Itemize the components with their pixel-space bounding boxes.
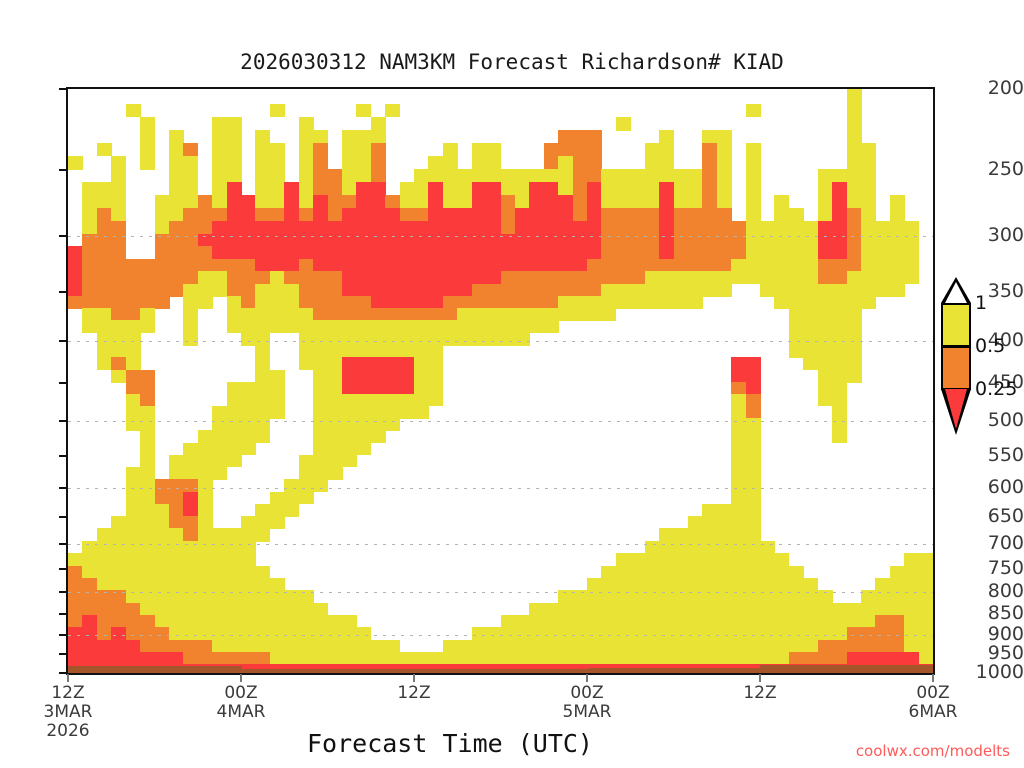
heatmap-cell bbox=[198, 430, 271, 443]
heatmap-cell bbox=[717, 169, 732, 182]
heatmap-cell bbox=[731, 418, 760, 431]
heatmap-cell bbox=[501, 182, 530, 196]
heatmap-cell bbox=[183, 504, 198, 517]
heatmap-cell bbox=[198, 528, 271, 541]
heatmap-cell bbox=[818, 259, 862, 272]
heatmap-cell bbox=[558, 182, 573, 196]
heatmap-cells bbox=[68, 89, 933, 673]
heatmap-cell bbox=[501, 615, 876, 628]
heatmap-cell bbox=[284, 271, 342, 284]
heatmap-cell bbox=[789, 652, 847, 665]
heatmap-cell bbox=[573, 156, 602, 170]
heatmap-cell bbox=[702, 504, 760, 517]
heatmap-cell bbox=[616, 553, 790, 566]
x-tick-line2: 6MAR bbox=[873, 703, 993, 722]
x-tick-label: 00Z6MAR bbox=[873, 684, 993, 722]
heatmap-cell bbox=[573, 182, 588, 196]
heatmap-cell bbox=[717, 182, 732, 196]
heatmap-cell bbox=[97, 615, 155, 628]
heatmap-cell bbox=[140, 640, 213, 653]
heatmap-cell bbox=[241, 296, 256, 309]
heatmap-cell bbox=[82, 221, 97, 234]
heatmap-cell bbox=[414, 169, 573, 182]
heatmap-cell bbox=[255, 169, 284, 182]
heatmap-cell bbox=[587, 208, 602, 221]
heatmap-cell bbox=[227, 208, 256, 221]
heatmap-cell bbox=[558, 130, 602, 143]
heatmap-cell bbox=[198, 479, 213, 492]
heatmap-cell bbox=[875, 578, 933, 591]
x-tick-line3: 2026 bbox=[8, 722, 128, 741]
heatmap-cell bbox=[68, 296, 170, 309]
gridline bbox=[68, 341, 933, 342]
heatmap-cell bbox=[270, 492, 314, 505]
terrain-segment bbox=[587, 668, 602, 675]
heatmap-cell bbox=[68, 553, 256, 566]
heatmap-cell bbox=[111, 169, 126, 182]
heatmap-cell bbox=[573, 169, 602, 182]
heatmap-cell bbox=[674, 221, 747, 234]
terrain-segment bbox=[760, 665, 775, 675]
heatmap-cell bbox=[111, 308, 140, 321]
heatmap-cell bbox=[111, 208, 126, 221]
heatmap-cell bbox=[818, 271, 847, 284]
heatmap-cell bbox=[789, 345, 862, 358]
heatmap-cell bbox=[126, 467, 155, 480]
heatmap-cell bbox=[212, 117, 241, 131]
heatmap-cell bbox=[270, 652, 790, 665]
heatmap-cell bbox=[861, 221, 919, 234]
heatmap-cell bbox=[371, 117, 386, 131]
heatmap-cell bbox=[140, 443, 155, 456]
x-axis-title: Forecast Time (UTC) bbox=[240, 729, 660, 758]
heatmap-cell bbox=[818, 169, 876, 182]
heatmap-cell bbox=[674, 195, 703, 209]
heatmap-cell bbox=[659, 221, 674, 234]
terrain-segment bbox=[169, 666, 184, 675]
heatmap-cell bbox=[68, 615, 83, 628]
x-tick-mark bbox=[67, 674, 69, 682]
heatmap-cell bbox=[832, 430, 847, 443]
heatmap-cell bbox=[126, 504, 170, 517]
heatmap-cell bbox=[385, 195, 400, 209]
heatmap-cell bbox=[299, 195, 314, 209]
y-tick-label: 900 bbox=[968, 625, 1024, 644]
heatmap-cell bbox=[832, 208, 847, 221]
colorbar-label: 0.5 bbox=[975, 337, 1005, 356]
heatmap-cell bbox=[126, 492, 155, 505]
heatmap-cell bbox=[457, 308, 616, 321]
heatmap-cell bbox=[212, 143, 241, 157]
heatmap-cell bbox=[227, 320, 559, 333]
heatmap-cell bbox=[68, 640, 141, 653]
heatmap-cell bbox=[155, 479, 199, 492]
heatmap-cell bbox=[832, 195, 847, 209]
heatmap-cell bbox=[82, 615, 97, 628]
heatmap-cell bbox=[140, 143, 155, 157]
heatmap-cell bbox=[702, 182, 717, 196]
terrain-segment bbox=[140, 666, 155, 675]
terrain-segment bbox=[731, 668, 746, 675]
terrain-segment bbox=[601, 668, 616, 675]
terrain-segment bbox=[356, 669, 371, 675]
heatmap-cell bbox=[414, 370, 443, 383]
heatmap-cell bbox=[832, 182, 847, 196]
terrain-segment bbox=[328, 669, 343, 675]
y-tick-mark bbox=[59, 516, 68, 518]
y-tick-label: 800 bbox=[968, 582, 1024, 601]
x-tick-label: 00Z5MAR bbox=[527, 684, 647, 722]
terrain-segment bbox=[428, 669, 443, 675]
heatmap-cell bbox=[616, 117, 631, 131]
gridline bbox=[68, 421, 933, 422]
heatmap-cell bbox=[255, 296, 299, 309]
heatmap-cell bbox=[255, 345, 270, 358]
terrain-segment bbox=[659, 668, 674, 675]
heatmap-cell bbox=[818, 182, 833, 196]
terrain-segment bbox=[717, 668, 732, 675]
heatmap-cell bbox=[68, 603, 141, 616]
heatmap-cell bbox=[299, 296, 372, 309]
y-tick-mark bbox=[59, 487, 68, 489]
heatmap-cell bbox=[299, 130, 328, 143]
heatmap-cell bbox=[904, 615, 933, 628]
credit-watermark: coolwx.com/modelts bbox=[856, 742, 1010, 760]
heatmap-cell bbox=[198, 504, 213, 517]
plot-area bbox=[66, 87, 935, 675]
heatmap-cell bbox=[97, 345, 141, 358]
heatmap-cell bbox=[645, 156, 674, 170]
y-tick-label: 250 bbox=[968, 160, 1024, 179]
x-tick-line2: 5MAR bbox=[527, 703, 647, 722]
heatmap-cell bbox=[299, 455, 357, 468]
heatmap-cell bbox=[126, 394, 141, 407]
heatmap-cell bbox=[890, 195, 905, 209]
heatmap-cell bbox=[169, 467, 227, 480]
heatmap-cell bbox=[313, 143, 328, 157]
heatmap-cell bbox=[169, 182, 198, 196]
heatmap-cell bbox=[847, 182, 876, 196]
heatmap-cell bbox=[126, 406, 155, 419]
terrain-segment bbox=[313, 669, 328, 675]
heatmap-cell bbox=[342, 382, 415, 395]
heatmap-cell bbox=[342, 284, 472, 297]
terrain-segment bbox=[789, 665, 804, 675]
heatmap-cell bbox=[111, 370, 126, 383]
heatmap-cell bbox=[97, 528, 184, 541]
heatmap-cell bbox=[313, 156, 328, 170]
heatmap-cell bbox=[731, 492, 760, 505]
heatmap-cell bbox=[313, 182, 342, 196]
heatmap-cell bbox=[890, 566, 934, 579]
y-tick-mark bbox=[59, 591, 68, 593]
heatmap-cell bbox=[299, 208, 314, 221]
heatmap-cell bbox=[183, 284, 227, 297]
heatmap-cell bbox=[97, 333, 141, 346]
heatmap-cell bbox=[472, 195, 501, 209]
heatmap-cell bbox=[299, 117, 314, 131]
heatmap-cell bbox=[342, 169, 371, 182]
heatmap-cell bbox=[875, 615, 904, 628]
heatmap-cell bbox=[342, 143, 371, 157]
heatmap-cell bbox=[97, 357, 112, 370]
heatmap-cell bbox=[284, 208, 299, 221]
heatmap-cell bbox=[227, 271, 271, 284]
heatmap-cell bbox=[847, 156, 876, 170]
heatmap-cell bbox=[573, 208, 588, 221]
colorbar-segment bbox=[941, 303, 971, 347]
heatmap-cell bbox=[847, 221, 862, 234]
heatmap-cell bbox=[818, 208, 833, 221]
heatmap-cell bbox=[861, 259, 919, 272]
x-tick-line1: 12Z bbox=[51, 683, 84, 703]
heatmap-cell bbox=[97, 208, 112, 221]
heatmap-cell bbox=[68, 284, 83, 297]
heatmap-cell bbox=[529, 182, 558, 196]
heatmap-cell bbox=[313, 195, 328, 209]
heatmap-cell bbox=[731, 259, 818, 272]
terrain-segment bbox=[111, 666, 126, 675]
gridline bbox=[68, 635, 933, 636]
heatmap-cell bbox=[443, 143, 458, 157]
heatmap-cell bbox=[183, 320, 198, 333]
heatmap-cell bbox=[746, 382, 761, 395]
y-tick-mark bbox=[59, 634, 68, 636]
heatmap-cell bbox=[284, 195, 299, 209]
heatmap-cell bbox=[183, 443, 256, 456]
heatmap-cell bbox=[328, 195, 357, 209]
heatmap-cell bbox=[155, 246, 213, 259]
heatmap-cell bbox=[313, 406, 429, 419]
y-tick-label: 700 bbox=[968, 534, 1024, 553]
heatmap-cell bbox=[227, 182, 242, 196]
terrain-segment bbox=[284, 669, 299, 675]
heatmap-cell bbox=[832, 406, 847, 419]
heatmap-cell bbox=[227, 382, 285, 395]
heatmap-cell bbox=[313, 169, 342, 182]
y-tick-label: 200 bbox=[968, 79, 1024, 98]
heatmap-cell bbox=[299, 345, 444, 358]
heatmap-cell bbox=[342, 208, 400, 221]
heatmap-cell bbox=[890, 208, 905, 221]
y-tick-label: 850 bbox=[968, 604, 1024, 623]
heatmap-cell bbox=[774, 208, 803, 221]
heatmap-cell bbox=[443, 296, 559, 309]
heatmap-cell bbox=[313, 394, 443, 407]
y-tick-label: 1000 bbox=[968, 663, 1024, 682]
heatmap-cell bbox=[659, 130, 674, 143]
heatmap-cell bbox=[270, 104, 285, 117]
heatmap-cell bbox=[818, 246, 847, 259]
heatmap-cell bbox=[601, 566, 803, 579]
terrain-segment bbox=[212, 666, 227, 675]
heatmap-cell bbox=[212, 182, 227, 196]
heatmap-cell bbox=[472, 182, 501, 196]
heatmap-cell bbox=[198, 516, 213, 529]
heatmap-cell bbox=[313, 430, 386, 443]
heatmap-cell bbox=[544, 143, 602, 157]
heatmap-cell bbox=[746, 195, 761, 209]
heatmap-cell bbox=[443, 640, 818, 653]
heatmap-cell bbox=[183, 308, 198, 321]
y-tick-mark bbox=[59, 653, 68, 655]
x-tick-line1: 12Z bbox=[743, 683, 776, 703]
heatmap-cell bbox=[140, 603, 328, 616]
terrain-segment bbox=[616, 668, 631, 675]
heatmap-cell bbox=[212, 640, 400, 653]
heatmap-cell bbox=[371, 143, 386, 157]
heatmap-cell bbox=[299, 467, 343, 480]
terrain-segment bbox=[183, 666, 198, 675]
heatmap-cell bbox=[746, 208, 761, 221]
heatmap-cell bbox=[227, 308, 314, 321]
heatmap-cell bbox=[126, 382, 155, 395]
heatmap-cell bbox=[140, 130, 155, 143]
heatmap-cell bbox=[847, 271, 920, 284]
heatmap-cell bbox=[746, 246, 819, 259]
heatmap-cell bbox=[601, 284, 731, 297]
heatmap-cell bbox=[371, 156, 386, 170]
terrain-segment bbox=[544, 669, 559, 675]
heatmap-cell bbox=[746, 104, 761, 117]
heatmap-cell bbox=[847, 89, 862, 105]
terrain-segment bbox=[126, 666, 141, 675]
heatmap-cell bbox=[183, 492, 198, 505]
heatmap-cell bbox=[284, 479, 328, 492]
terrain-segment bbox=[68, 666, 83, 675]
heatmap-cell bbox=[774, 195, 789, 209]
heatmap-cell bbox=[674, 246, 747, 259]
heatmap-cell bbox=[299, 182, 314, 196]
y-tick-mark bbox=[59, 420, 68, 422]
heatmap-cell bbox=[169, 455, 242, 468]
heatmap-cell bbox=[847, 195, 876, 209]
terrain-segment bbox=[414, 669, 429, 675]
heatmap-cell bbox=[313, 418, 400, 431]
heatmap-cell bbox=[313, 443, 371, 456]
heatmap-cell bbox=[601, 182, 659, 196]
heatmap-cell bbox=[601, 221, 659, 234]
y-tick-mark bbox=[59, 613, 68, 615]
colorbar-label: 0.25 bbox=[975, 380, 1017, 399]
y-tick-mark bbox=[59, 88, 68, 90]
heatmap-cell bbox=[356, 195, 385, 209]
heatmap-cell bbox=[746, 182, 761, 196]
heatmap-cell bbox=[82, 195, 126, 209]
heatmap-cell bbox=[601, 246, 659, 259]
heatmap-cell bbox=[443, 195, 472, 209]
heatmap-cell bbox=[140, 455, 155, 468]
heatmap-cell bbox=[255, 195, 284, 209]
terrain-segment bbox=[486, 669, 501, 675]
heatmap-cell bbox=[674, 182, 703, 196]
y-tick-mark bbox=[59, 340, 68, 342]
heatmap-cell bbox=[400, 208, 429, 221]
heatmap-cell bbox=[342, 130, 386, 143]
heatmap-cell bbox=[299, 284, 343, 297]
terrain-segment bbox=[558, 669, 573, 675]
heatmap-cell bbox=[82, 320, 155, 333]
heatmap-cell bbox=[183, 296, 212, 309]
terrain-segment bbox=[630, 668, 645, 675]
heatmap-cell bbox=[371, 296, 444, 309]
heatmap-cell bbox=[97, 143, 112, 157]
colorbar-legend[interactable]: 10.50.25 bbox=[941, 303, 971, 433]
x-tick-mark bbox=[240, 674, 242, 682]
heatmap-cell bbox=[155, 208, 184, 221]
heatmap-cell bbox=[82, 271, 198, 284]
heatmap-cell bbox=[818, 195, 833, 209]
heatmap-cell bbox=[212, 221, 501, 234]
terrain-segment bbox=[342, 669, 357, 675]
heatmap-cell bbox=[659, 182, 674, 196]
x-tick-line1: 12Z bbox=[397, 683, 430, 703]
heatmap-cell bbox=[198, 271, 227, 284]
heatmap-cell bbox=[342, 357, 415, 370]
terrain-segment bbox=[803, 665, 818, 675]
terrain-segment bbox=[861, 665, 876, 675]
heatmap-cell bbox=[400, 195, 429, 209]
heatmap-cell bbox=[299, 333, 530, 346]
terrain-segment bbox=[529, 669, 544, 675]
heatmap-cell bbox=[847, 130, 862, 143]
heatmap-cell bbox=[313, 382, 342, 395]
heatmap-cell bbox=[183, 528, 198, 541]
x-tick-line1: 00Z bbox=[916, 683, 949, 703]
heatmap-cell bbox=[731, 467, 760, 480]
heatmap-cell bbox=[702, 169, 717, 182]
heatmap-cell bbox=[183, 208, 227, 221]
y-tick-label: 600 bbox=[968, 478, 1024, 497]
terrain-segment bbox=[299, 669, 314, 675]
x-tick-line2: 3MAR bbox=[8, 703, 128, 722]
heatmap-cell bbox=[313, 208, 328, 221]
gridline bbox=[68, 488, 933, 489]
heatmap-cell bbox=[255, 259, 299, 272]
y-tick-mark bbox=[59, 235, 68, 237]
heatmap-cell bbox=[126, 357, 141, 370]
heatmap-cell bbox=[587, 195, 602, 209]
terrain-segment bbox=[198, 666, 213, 675]
terrain-segment bbox=[847, 665, 862, 675]
terrain-segment bbox=[241, 669, 256, 675]
heatmap-cell bbox=[601, 195, 659, 209]
heatmap-cell bbox=[847, 117, 862, 131]
heatmap-cell bbox=[731, 370, 760, 383]
heatmap-cell bbox=[68, 652, 184, 665]
heatmap-cell bbox=[443, 182, 472, 196]
gridline bbox=[68, 592, 933, 593]
heatmap-cell bbox=[818, 370, 862, 383]
heatmap-cell bbox=[731, 406, 746, 419]
heatmap-cell bbox=[255, 284, 299, 297]
colorbar-label: 1 bbox=[975, 294, 987, 313]
heatmap-cell bbox=[155, 195, 199, 209]
heatmap-cell bbox=[818, 640, 905, 653]
heatmap-cell bbox=[183, 652, 270, 665]
heatmap-cell bbox=[645, 143, 674, 157]
heatmap-cell bbox=[284, 182, 299, 196]
terrain-segment bbox=[774, 665, 789, 675]
heatmap-cell bbox=[515, 195, 530, 209]
gridline bbox=[68, 673, 933, 674]
heatmap-cell bbox=[731, 443, 760, 456]
x-tick-line1: 00Z bbox=[570, 683, 603, 703]
heatmap-cell bbox=[414, 357, 443, 370]
heatmap-cell bbox=[313, 259, 588, 272]
heatmap-cell bbox=[299, 156, 314, 170]
heatmap-cell bbox=[587, 259, 732, 272]
